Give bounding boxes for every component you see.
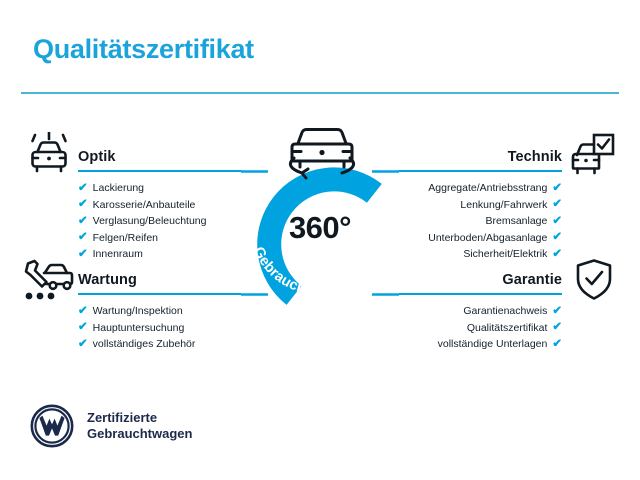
list-item-label: Wartung/Inspektion: [93, 303, 183, 320]
vw-logo-icon: [30, 404, 74, 448]
check-icon: ✔: [552, 306, 562, 318]
check-icon: ✔: [552, 232, 562, 244]
list-item: Aggregate/Antriebsstrang✔: [399, 180, 562, 197]
list-item: ✔Innenraum: [78, 246, 241, 263]
section-optik-header: Optik: [78, 142, 241, 172]
list-item-label: Lackierung: [93, 180, 144, 197]
check-icon: ✔: [552, 183, 562, 195]
list-item-label: Hauptuntersuchung: [93, 320, 185, 337]
check-icon: ✔: [78, 216, 88, 228]
check-icon: ✔: [78, 306, 88, 318]
section-wartung: Wartung ✔Wartung/Inspektion ✔Hauptunters…: [78, 265, 241, 353]
list-item: ✔Felgen/Reifen: [78, 230, 241, 247]
section-technik-title: Technik: [508, 149, 562, 165]
check-icon: ✔: [552, 216, 562, 228]
list-item-label: Lenkung/Fahrwerk: [460, 197, 547, 214]
list-item-label: Bremsanlage: [485, 213, 547, 230]
section-optik-divider: [78, 170, 241, 173]
list-item-label: Aggregate/Antriebsstrang: [428, 180, 547, 197]
list-item: Lenkung/Fahrwerk✔: [399, 197, 562, 214]
list-item-label: Verglasung/Beleuchtung: [93, 213, 207, 230]
footer-brand: Zertifizierte Gebrauchtwagen: [30, 404, 192, 448]
check-icon: ✔: [552, 322, 562, 334]
list-item: vollständige Unterlagen✔: [399, 336, 562, 353]
certificate-page: Qualitätszertifikat: [0, 0, 640, 480]
check-icon: ✔: [552, 199, 562, 211]
section-optik-list: ✔Lackierung ✔Karosserie/Anbauteile ✔Verg…: [78, 180, 241, 263]
badge-degrees-label: 360°: [232, 210, 408, 246]
list-item-label: vollständiges Zubehör: [93, 336, 196, 353]
list-item: ✔vollständiges Zubehör: [78, 336, 241, 353]
car-service-wrench-icon: [22, 258, 74, 309]
section-garantie: Garantie Garantienachweis✔ Qualitätszert…: [399, 265, 562, 353]
list-item: ✔Verglasung/Beleuchtung: [78, 213, 241, 230]
list-item: ✔Hauptuntersuchung: [78, 320, 241, 337]
section-technik-list: Aggregate/Antriebsstrang✔ Lenkung/Fahrwe…: [399, 180, 562, 263]
page-title: Qualitätszertifikat: [33, 34, 254, 65]
check-icon: ✔: [78, 199, 88, 211]
section-wartung-list: ✔Wartung/Inspektion ✔Hauptuntersuchung ✔…: [78, 303, 241, 353]
check-icon: ✔: [78, 322, 88, 334]
list-item: Unterboden/Abgasanlage✔: [399, 230, 562, 247]
section-wartung-title: Wartung: [78, 272, 137, 288]
check-icon: ✔: [552, 339, 562, 351]
list-item: ✔Wartung/Inspektion: [78, 303, 241, 320]
section-garantie-list: Garantienachweis✔ Qualitätszertifikat✔ v…: [399, 303, 562, 353]
section-garantie-header: Garantie: [399, 265, 562, 295]
list-item-label: Felgen/Reifen: [93, 230, 158, 247]
section-optik-title: Optik: [78, 149, 116, 165]
list-item-label: Qualitätszertifikat: [467, 320, 548, 337]
list-item: Sicherheit/Elektrik✔: [399, 246, 562, 263]
section-garantie-title: Garantie: [502, 272, 562, 288]
section-optik: Optik ✔Lackierung ✔Karosserie/Anbauteile…: [78, 142, 241, 263]
car-rotate-360-icon: [278, 120, 366, 182]
car-shine-icon: [24, 132, 74, 183]
title-divider: [21, 92, 619, 94]
list-item-label: Karosserie/Anbauteile: [93, 197, 196, 214]
section-technik-header: Technik: [399, 142, 562, 172]
section-wartung-divider: [78, 293, 241, 296]
list-item: Garantienachweis✔: [399, 303, 562, 320]
list-item-label: vollständige Unterlagen: [438, 336, 548, 353]
list-item-label: Unterboden/Abgasanlage: [428, 230, 547, 247]
section-garantie-divider: [399, 293, 562, 296]
list-item-label: Sicherheit/Elektrik: [463, 246, 547, 263]
section-technik: Technik Aggregate/Antriebsstrang✔ Lenkun…: [399, 142, 562, 263]
section-wartung-header: Wartung: [78, 265, 241, 295]
shield-check-icon: [575, 258, 613, 307]
check-icon: ✔: [78, 339, 88, 351]
list-item: Qualitätszertifikat✔: [399, 320, 562, 337]
list-item: ✔Karosserie/Anbauteile: [78, 197, 241, 214]
list-item-label: Innenraum: [93, 246, 143, 263]
list-item-label: Garantienachweis: [463, 303, 547, 320]
check-icon: ✔: [78, 232, 88, 244]
section-technik-divider: [399, 170, 562, 173]
check-icon: ✔: [78, 249, 88, 261]
car-checkbox-icon: [568, 131, 616, 184]
badge-360-gebrauchtwagen-check: Gebrauchtwagen-Check 360°: [232, 148, 408, 308]
check-icon: ✔: [78, 183, 88, 195]
list-item: Bremsanlage✔: [399, 213, 562, 230]
list-item: ✔Lackierung: [78, 180, 241, 197]
footer-brand-label: Zertifizierte Gebrauchtwagen: [87, 410, 192, 442]
check-icon: ✔: [552, 249, 562, 261]
